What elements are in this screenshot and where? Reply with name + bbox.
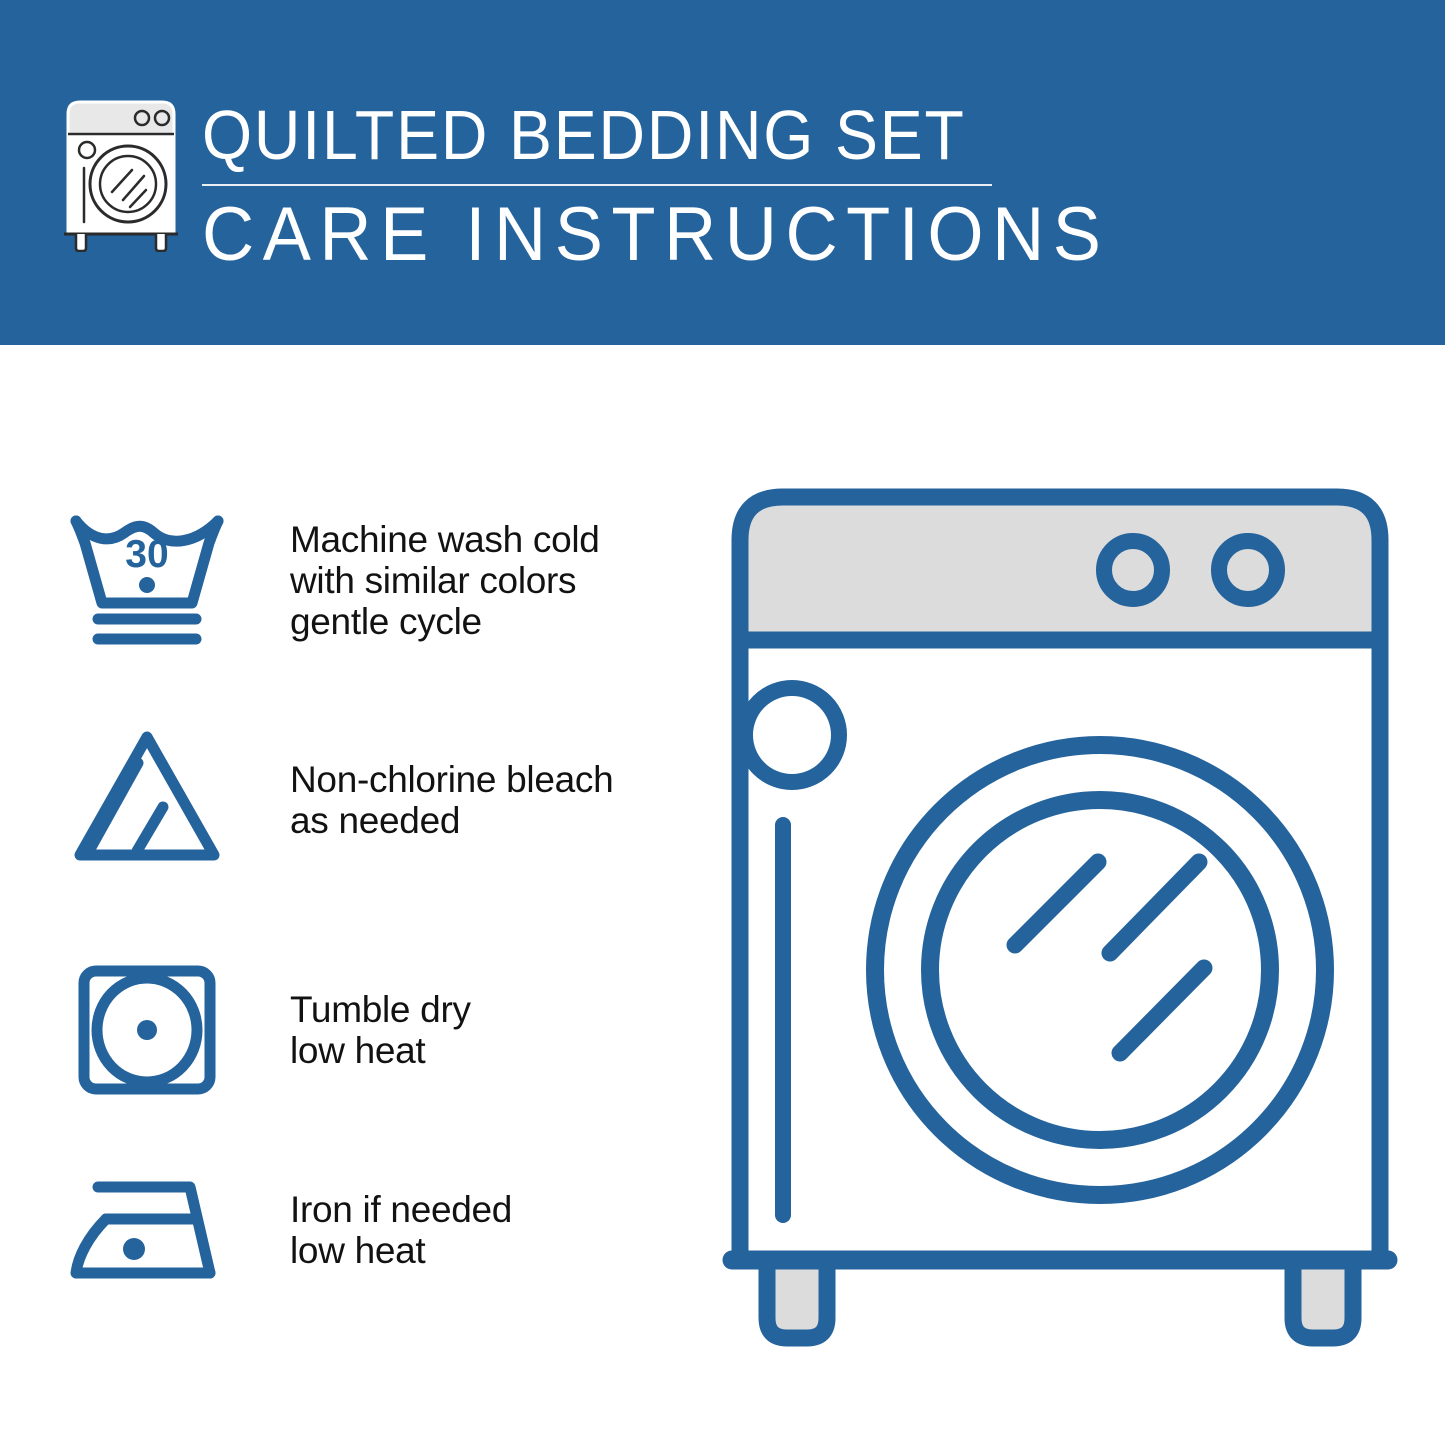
washing-machine-icon xyxy=(60,92,182,252)
page-title: QUILTED BEDDING SET xyxy=(202,96,1081,174)
header-title-group: QUILTED BEDDING SET CARE INSTRUCTIONS xyxy=(202,92,1157,278)
title-divider xyxy=(202,184,992,186)
care-row-iron: Iron if needed low heat xyxy=(62,1145,682,1315)
care-text-bleach: Non-chlorine bleach as needed xyxy=(290,759,613,841)
non-chlorine-bleach-triangle-icon xyxy=(62,715,232,885)
header-banner: QUILTED BEDDING SET CARE INSTRUCTIONS xyxy=(0,0,1445,345)
iron-low-heat-icon xyxy=(62,1145,232,1315)
washer-leg-right xyxy=(1293,1260,1353,1338)
care-text-iron: Iron if needed low heat xyxy=(290,1189,512,1271)
care-instructions-list: 30 Machine wash cold with similar colors… xyxy=(0,345,700,1445)
wash-temperature-label: 30 xyxy=(125,533,168,576)
care-row-machine-wash: 30 Machine wash cold with similar colors… xyxy=(62,495,682,665)
care-text-machine-wash: Machine wash cold with similar colors ge… xyxy=(290,519,600,642)
washer-leg-left xyxy=(767,1260,827,1338)
care-row-tumble-dry: Tumble dry low heat xyxy=(62,945,682,1115)
care-text-tumble-dry: Tumble dry low heat xyxy=(290,989,471,1071)
care-row-bleach: Non-chlorine bleach as needed xyxy=(62,715,682,885)
wash-tub-30-gentle-icon: 30 xyxy=(62,495,232,665)
header-content: QUILTED BEDDING SET CARE INSTRUCTIONS xyxy=(60,92,1157,278)
page-subtitle: CARE INSTRUCTIONS xyxy=(202,192,1110,278)
front-load-washing-machine-illustration xyxy=(715,470,1405,1370)
tumble-dry-low-heat-icon xyxy=(62,945,232,1115)
